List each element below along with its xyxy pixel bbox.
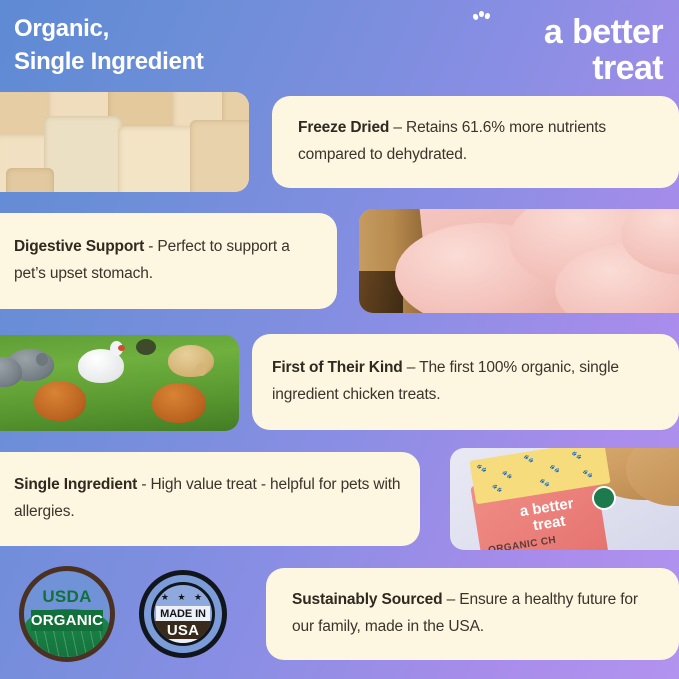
feature-dash-freeze-dried: –: [389, 119, 406, 136]
product-infographic: Organic, Single Ingredient abetter treat…: [0, 0, 679, 679]
feature-text-freeze-dried: Freeze Dried – Retains 61.6% more nutrie…: [298, 115, 653, 168]
usa-seal-line-2: USA: [154, 621, 212, 639]
feature-title-freeze-dried: Freeze Dried: [298, 119, 389, 136]
page-title: Organic, Single Ingredient: [14, 12, 204, 78]
feature-card-digestive-support: Digestive Support - Perfect to support a…: [0, 213, 337, 309]
feature-dash-digestive-support: -: [144, 238, 157, 255]
feature-dash-sustainably-sourced: –: [442, 591, 459, 608]
usda-seal-line-2: ORGANIC: [31, 610, 103, 631]
photo-freeze-dried-chicken: [0, 92, 249, 192]
usa-seal-line-1: MADE IN: [156, 606, 210, 621]
brand-logo: abetter treat: [453, 14, 663, 86]
feature-card-sustainably-sourced: Sustainably Sourced – Ensure a healthy f…: [266, 568, 679, 660]
feature-card-freeze-dried: Freeze Dried – Retains 61.6% more nutrie…: [272, 96, 679, 188]
feature-card-single-ingredient: Single Ingredient - High value treat - h…: [0, 452, 420, 546]
feature-text-digestive-support: Digestive Support - Perfect to support a…: [14, 234, 323, 287]
package-brand-letter-a: a: [519, 502, 530, 520]
feature-card-first-of-their-kind: First of Their Kind – The first 100% org…: [252, 334, 679, 430]
feature-dash-single-ingredient: -: [137, 476, 150, 493]
brand-word-treat: treat: [453, 50, 663, 86]
brand-letter-a: a: [544, 13, 562, 51]
usa-seal-stars-top: ★ ★ ★: [154, 593, 212, 602]
feature-title-single-ingredient: Single Ingredient: [14, 476, 137, 493]
feature-title-digestive-support: Digestive Support: [14, 238, 144, 255]
photo-raw-chicken-breast: [359, 209, 679, 313]
feature-title-first-of-their-kind: First of Their Kind: [272, 359, 403, 376]
feature-text-single-ingredient: Single Ingredient - High value treat - h…: [14, 472, 406, 525]
brand-word-better: better: [572, 13, 663, 51]
feature-dash-first-of-their-kind: –: [403, 359, 420, 376]
feature-title-sustainably-sourced: Sustainably Sourced: [292, 591, 442, 608]
feature-text-sustainably-sourced: Sustainably Sourced – Ensure a healthy f…: [292, 587, 653, 640]
brand-logo-line-1: abetter: [453, 14, 663, 50]
photo-free-range-chickens: [0, 335, 239, 431]
feature-text-first-of-their-kind: First of Their Kind – The first 100% org…: [272, 355, 659, 408]
paw-print-icon: [473, 10, 495, 24]
photo-product-package: 🐾 🐾 🐾 🐾 🐾 🐾 🐾 🐾 a better treat ORGANIC C…: [450, 448, 679, 550]
usda-seal-line-1: USDA: [24, 587, 110, 607]
